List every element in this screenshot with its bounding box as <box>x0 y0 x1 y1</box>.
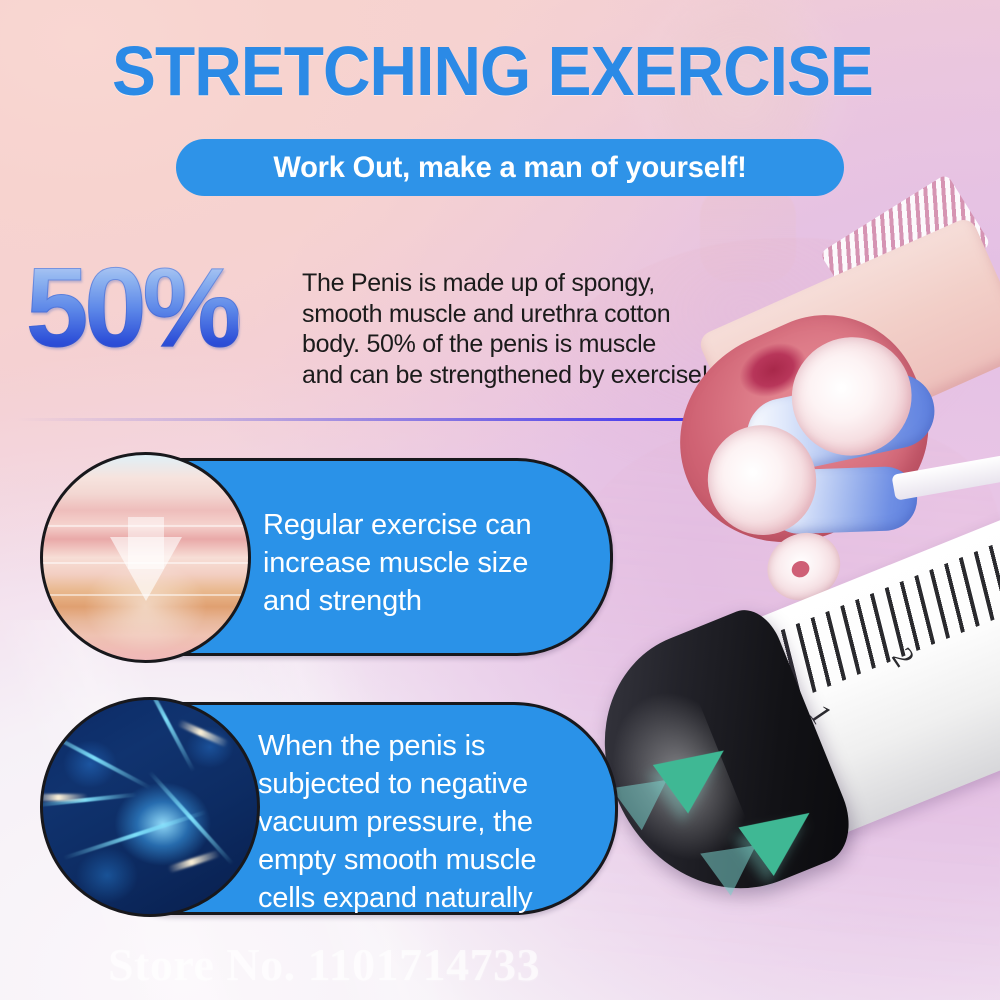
info-card-line: and strength <box>263 582 593 620</box>
stat-paragraph-line: The Penis is made up of spongy, <box>302 268 774 299</box>
info-card-line: vacuum pressure, the <box>258 803 603 841</box>
info-card-line: When the penis is <box>258 727 603 765</box>
info-card-line: Regular exercise can <box>263 506 593 544</box>
info-card-text: Regular exercise can increase muscle siz… <box>263 506 593 620</box>
info-card-line: increase muscle size <box>263 544 593 582</box>
info-card-line: empty smooth muscle <box>258 841 603 879</box>
store-watermark: Store No. 1101714733 <box>108 938 540 991</box>
subtitle-text: Work Out, make a man of yourself! <box>273 151 746 185</box>
subtitle-banner: Work Out, make a man of yourself! <box>176 139 844 196</box>
info-card-line: cells expand naturally <box>258 879 603 917</box>
absorption-arrow-icon <box>110 537 182 601</box>
info-card-text: When the penis is subjected to negative … <box>258 727 603 917</box>
skin-layers-thumbnail <box>40 452 251 663</box>
muscle-cells-thumbnail <box>40 697 260 917</box>
stat-percentage: 50% <box>26 252 238 364</box>
infographic-canvas: STRETCHING EXERCISE Work Out, make a man… <box>0 0 1000 1000</box>
info-card-line: subjected to negative <box>258 765 603 803</box>
page-title: STRETCHING EXERCISE <box>112 34 855 108</box>
